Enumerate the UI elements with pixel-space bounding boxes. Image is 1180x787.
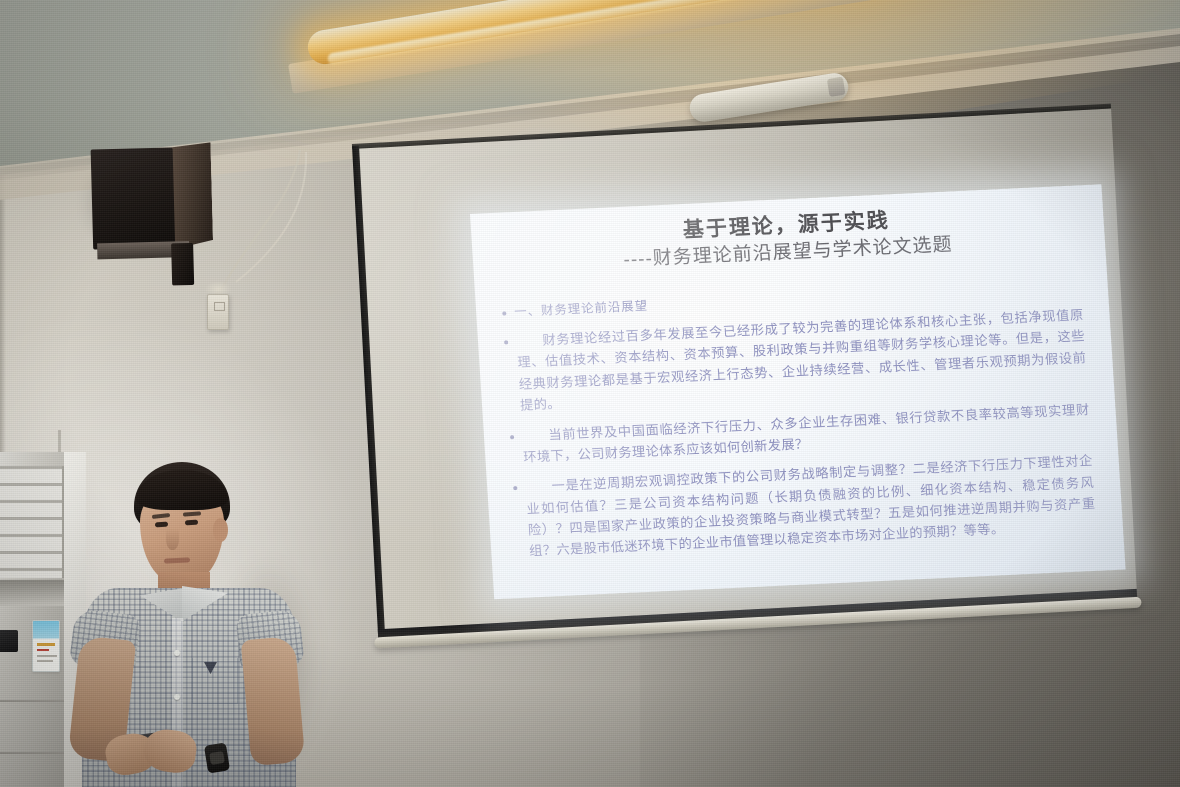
ac-vent-louvers bbox=[0, 466, 64, 578]
slide-bullet: 一是在逆周期宏观调控政策下的公司财务战略制定与调整？二是经济下行压力下理性对企业… bbox=[511, 450, 1098, 563]
slide-bullet-text: 一是在逆周期宏观调控政策下的公司财务战略制定与调整？二是经济下行压力下理性对企业… bbox=[525, 450, 1098, 562]
ac-air-outlet bbox=[0, 580, 64, 606]
presenter-eye bbox=[185, 520, 198, 526]
sticker-bar bbox=[37, 660, 53, 662]
sticker-bar bbox=[37, 655, 57, 657]
bullet-dot-icon bbox=[504, 340, 508, 344]
presenter-nose bbox=[166, 528, 179, 550]
energy-efficiency-sticker bbox=[32, 620, 60, 672]
projected-slide: 基于理论，源于实践 ----财务理论前沿展望与学术论文选题 一、财务理论前沿展望… bbox=[470, 184, 1126, 599]
presenter-ear bbox=[213, 518, 228, 542]
lecture-hall-scene: 基于理论，源于实践 ----财务理论前沿展望与学术论文选题 一、财务理论前沿展望… bbox=[0, 0, 1180, 787]
slide-bullet: 财务理论经过百多年发展至今已经形成了较为完善的理论体系和核心主张，包括净现值原理… bbox=[501, 304, 1088, 417]
presenter-shirt-button bbox=[174, 650, 180, 656]
presenter-wristwatch bbox=[204, 742, 230, 773]
bullet-dot-icon bbox=[513, 486, 517, 490]
wall-outlet-plate bbox=[207, 294, 229, 330]
presenter-eye bbox=[155, 522, 168, 528]
speaker-grille bbox=[91, 147, 176, 249]
slide-content: 基于理论，源于实践 ----财务理论前沿展望与学术论文选题 一、财务理论前沿展望… bbox=[470, 184, 1126, 599]
presenter bbox=[66, 462, 306, 787]
slide-bullet-text: 财务理论经过百多年发展至今已经形成了较为完善的理论体系和核心主张，包括净现值原理… bbox=[515, 304, 1088, 416]
slide-body: 一、财务理论前沿展望 财务理论经过百多年发展至今已经形成了较为完善的理论体系和核… bbox=[500, 275, 1098, 563]
sticker-bar bbox=[37, 643, 55, 646]
ac-display-panel bbox=[0, 630, 18, 652]
ac-panel-seam bbox=[0, 700, 64, 702]
roller-end-cap bbox=[827, 77, 846, 97]
bullet-dot-icon bbox=[510, 435, 514, 439]
presenter-arm bbox=[241, 636, 306, 766]
ac-panel-seam bbox=[0, 752, 64, 754]
wall-corner-line bbox=[0, 170, 6, 470]
sticker-bar bbox=[37, 649, 49, 651]
floor-standing-air-conditioner bbox=[0, 452, 72, 787]
bullet-dot-icon bbox=[502, 311, 506, 315]
presenter-shirt-button bbox=[174, 694, 180, 700]
